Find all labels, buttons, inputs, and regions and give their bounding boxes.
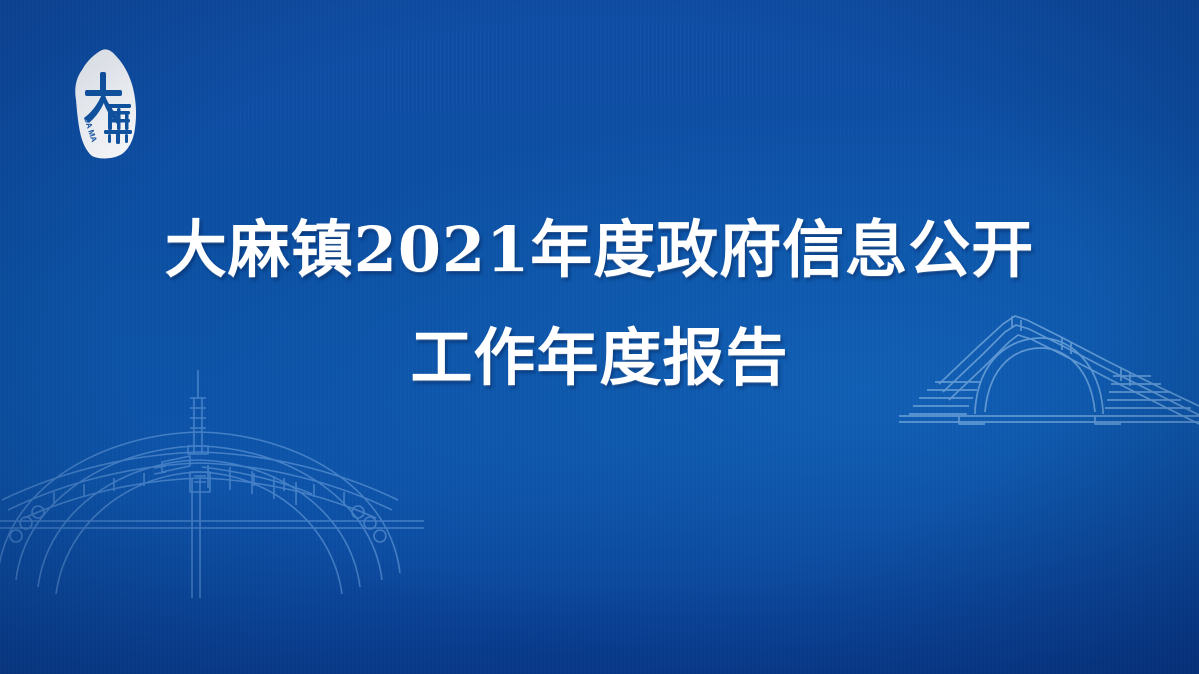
title-line-2: 工作年度报告 <box>0 304 1199 412</box>
title-line-1: 大麻镇2021年度政府信息公开 <box>0 196 1199 304</box>
landmark-tower-bridge-icon <box>0 368 424 603</box>
background-texture <box>0 0 1199 674</box>
report-cover-poster: DA MA 大麻镇2021年度政府信息公开 工作年度报告 <box>0 0 1199 674</box>
page-title: 大麻镇2021年度政府信息公开 工作年度报告 <box>0 196 1199 412</box>
dama-town-logo: DA MA <box>64 48 148 160</box>
arched-stone-bridge-icon <box>899 288 1199 478</box>
background-vignette <box>0 0 1199 674</box>
